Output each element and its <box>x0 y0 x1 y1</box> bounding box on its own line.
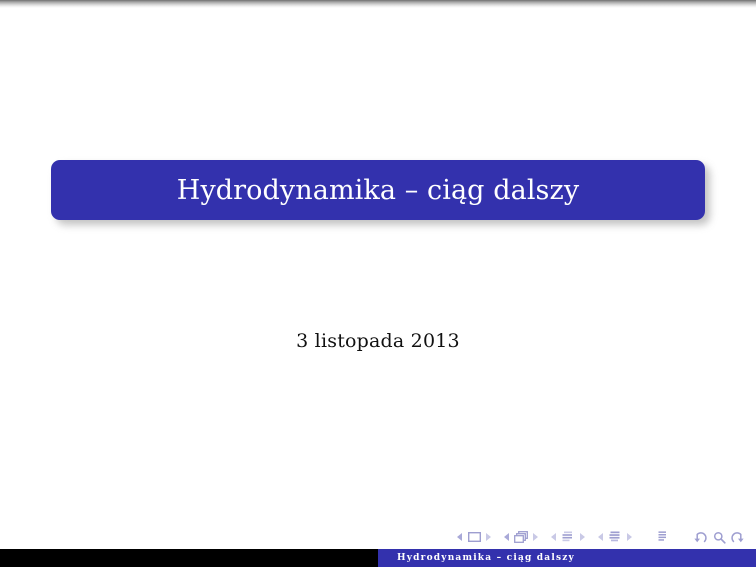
title-block-background: Hydrodynamika – ciąg dalszy <box>51 160 705 220</box>
footer-bar: Hydrodynamika – ciąg dalszy <box>0 549 756 567</box>
date-line: 3 listopada 2013 <box>0 330 756 352</box>
nav-spacer <box>680 528 690 546</box>
next-section-icon[interactable] <box>624 528 634 546</box>
frames-icon[interactable] <box>512 528 530 546</box>
nav-spacer <box>643 528 653 546</box>
footer-left-bar <box>0 549 378 567</box>
slide-icon[interactable] <box>465 528 483 546</box>
go-forward-icon[interactable] <box>728 528 748 546</box>
subsection-navigation-group[interactable] <box>549 528 587 546</box>
history-navigation-group[interactable] <box>680 528 748 546</box>
document-icon[interactable] <box>653 528 671 546</box>
previous-frame-icon[interactable] <box>502 528 512 546</box>
next-subsection-icon[interactable] <box>577 528 587 546</box>
window-top-edge <box>0 0 756 8</box>
previous-section-icon[interactable] <box>596 528 606 546</box>
presentation-slide: Hydrodynamika – ciąg dalszy 3 listopada … <box>0 0 756 567</box>
previous-subsection-icon[interactable] <box>549 528 559 546</box>
navigation-symbols[interactable] <box>455 528 748 546</box>
next-slide-icon[interactable] <box>483 528 493 546</box>
previous-slide-icon[interactable] <box>455 528 465 546</box>
section-icon[interactable] <box>606 528 624 546</box>
search-icon[interactable] <box>710 528 728 546</box>
page-title: Hydrodynamika – ciąg dalszy <box>177 177 579 204</box>
subsection-icon[interactable] <box>559 528 577 546</box>
go-back-icon[interactable] <box>690 528 710 546</box>
section-navigation-group[interactable] <box>596 528 634 546</box>
footer-title: Hydrodynamika – ciąg dalszy <box>397 553 575 563</box>
footer-right-bar: Hydrodynamika – ciąg dalszy <box>378 549 756 567</box>
next-frame-icon[interactable] <box>530 528 540 546</box>
frame-navigation-group[interactable] <box>502 528 540 546</box>
slide-navigation-group[interactable] <box>455 528 493 546</box>
title-block: Hydrodynamika – ciąg dalszy <box>51 160 705 220</box>
document-navigation-group[interactable] <box>643 528 671 546</box>
presentation-date: 3 listopada 2013 <box>296 330 460 352</box>
